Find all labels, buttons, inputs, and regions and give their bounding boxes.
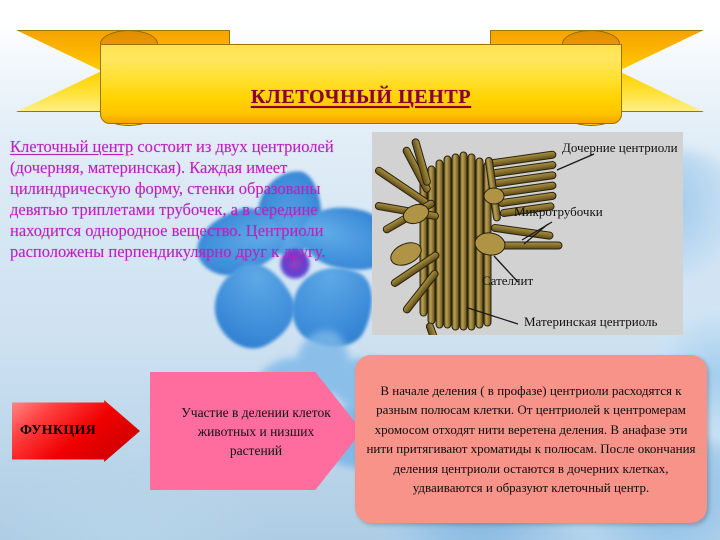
diagram-label-daughter-centrioles: Дочерние центриоли [562, 140, 678, 156]
page-title: КЛЕТОЧНЫЙ ЦЕНТР [251, 86, 471, 109]
division-details-box: В начале деления ( в профазе) центриоли … [355, 355, 707, 523]
title-ribbon: КЛЕТОЧНЫЙ ЦЕНТР [0, 18, 720, 123]
description-lead: Клеточный центр [10, 137, 133, 156]
centriole-diagram: Дочерние центриоли Микротрубочки Сателли… [372, 132, 683, 335]
division-details-text: В начале деления ( в профазе) центриоли … [363, 381, 699, 498]
ribbon-body: КЛЕТОЧНЫЙ ЦЕНТР [100, 44, 622, 124]
diagram-label-mother-centriole: Материнская центриоль [524, 314, 657, 330]
centriole-illustration [372, 132, 683, 335]
diagram-label-satellite: Сателлит [482, 273, 533, 289]
function-label: ФУНКЦИЯ [12, 423, 104, 439]
diagram-label-microtubules: Микротрубочки [514, 204, 603, 220]
description-text: Клеточный центр состоит из двух центриол… [10, 136, 362, 262]
function-description-text: Участие в делении клеток животных и низш… [173, 403, 338, 460]
presentation-slide: КЛЕТОЧНЫЙ ЦЕНТР Клеточный центр состоит … [0, 0, 720, 540]
